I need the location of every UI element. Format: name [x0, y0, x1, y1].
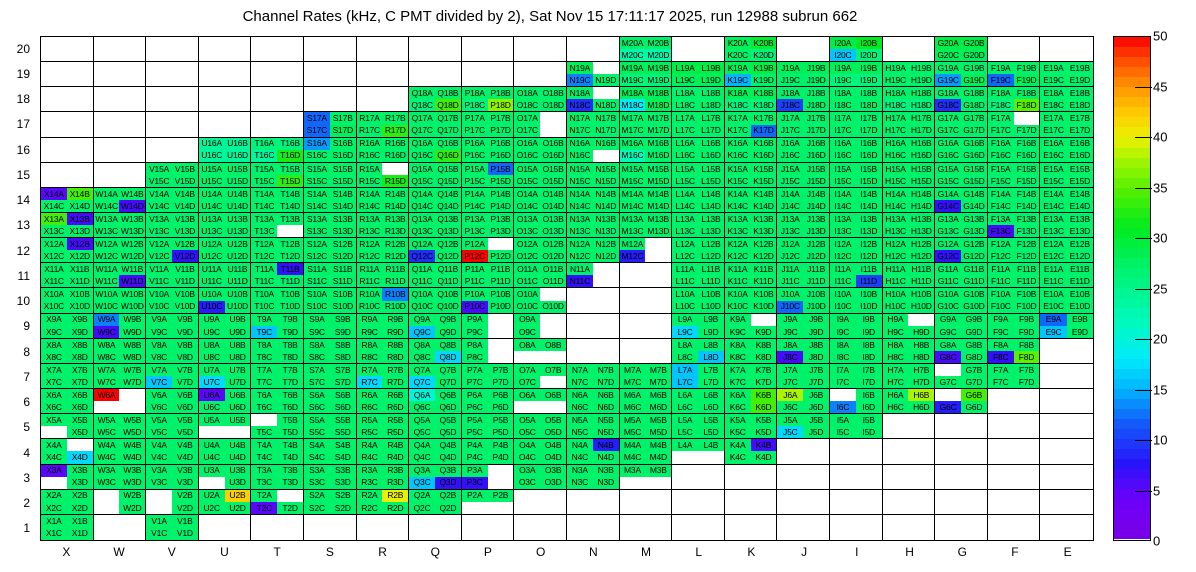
- subchannel-Q3A: Q3A: [409, 465, 435, 477]
- subchannel-G4B: [961, 439, 987, 451]
- heatmap-cell-M17: M17AM17BM17CM17D: [620, 112, 673, 137]
- subchannel-H7C: H7C: [883, 376, 909, 388]
- subchannel-G12C: G12C: [935, 250, 961, 262]
- subchannel-T13A: T13A: [251, 213, 277, 225]
- subchannel-K4B: K4B: [751, 439, 777, 451]
- heatmap-cell-I14: I14AI14BI14CI14D: [830, 188, 883, 213]
- heatmap-cell-I13: I13AI13BI13CI13D: [830, 213, 883, 238]
- subchannel-W15A: [94, 163, 120, 175]
- subchannel-U17C: [199, 125, 225, 137]
- subchannel-R3D: R3D: [382, 477, 408, 489]
- subchannel-N10A: [567, 288, 593, 300]
- subchannel-K3A: [725, 465, 751, 477]
- subchannel-N14D: N14D: [593, 200, 619, 212]
- subchannel-O6D: [540, 401, 566, 413]
- subchannel-M5B: M5B: [645, 414, 671, 426]
- heatmap-cell-X18: [41, 87, 94, 112]
- heatmap-cell-N11: N11AN11C: [567, 263, 620, 288]
- subchannel-U14A: U14A: [199, 188, 225, 200]
- subchannel-T6B: T6B: [277, 389, 303, 401]
- subchannel-G1C: [935, 527, 961, 540]
- subchannel-T2A: T2A: [251, 490, 277, 502]
- heatmap-cell-W12: W12AW12BW12CW12D: [94, 238, 147, 263]
- subchannel-M17C: M17C: [620, 125, 646, 137]
- subchannel-E8B: [1067, 339, 1093, 351]
- subchannel-Q12C: Q12C: [409, 250, 435, 262]
- heatmap-cell-U19: [199, 62, 252, 87]
- subchannel-N1B: [593, 515, 619, 528]
- subchannel-I14D: I14D: [856, 200, 882, 212]
- subchannel-H4A: [883, 439, 909, 451]
- heatmap-cell-F20: [988, 37, 1041, 62]
- subchannel-S10D: S10D: [330, 301, 356, 313]
- heatmap-cell-R8: R8AR8BR8CR8D: [357, 339, 410, 364]
- subchannel-N14C: N14C: [567, 200, 593, 212]
- subchannel-W14C: W14C: [94, 200, 120, 212]
- y-tick-10: 10: [17, 294, 30, 308]
- subchannel-G17A: G17A: [935, 112, 961, 124]
- heatmap-cell-G9: G9AG9BG9CG9D: [935, 314, 988, 339]
- subchannel-F17A: F17A: [988, 112, 1014, 124]
- subchannel-R16B: R16B: [382, 138, 408, 150]
- subchannel-S7D: S7D: [330, 376, 356, 388]
- subchannel-W20B: [119, 37, 145, 49]
- subchannel-E9A: E9A: [1040, 314, 1066, 326]
- subchannel-W20A: [94, 37, 120, 49]
- subchannel-W18C: [94, 99, 120, 111]
- heatmap-cell-S1: [304, 515, 357, 540]
- x-tick-N: N: [589, 545, 598, 559]
- subchannel-X11B: X11B: [67, 263, 93, 275]
- subchannel-X19B: [67, 62, 93, 74]
- subchannel-P4A: P4A: [462, 439, 488, 451]
- heatmap-cell-X11: X11AX11BX11CX11D: [41, 263, 94, 288]
- x-tick-R: R: [378, 545, 387, 559]
- subchannel-E19A: E19A: [1040, 62, 1066, 74]
- subchannel-I12C: I12C: [830, 250, 856, 262]
- subchannel-G1A: [935, 515, 961, 528]
- subchannel-K17B: K17B: [751, 112, 777, 124]
- subchannel-K9B: [751, 314, 777, 326]
- heatmap-cell-T8: T8AT8BT8CT8D: [251, 339, 304, 364]
- subchannel-P20D: [488, 49, 514, 61]
- heatmap-cell-R13: R13AR13BR13CR13D: [357, 213, 410, 238]
- subchannel-I17C: I17C: [830, 125, 856, 137]
- subchannel-I15A: I15A: [830, 163, 856, 175]
- subchannel-H9D: H9D: [908, 326, 934, 338]
- subchannel-O6B: O6B: [540, 389, 566, 401]
- subchannel-X4C: X4C: [41, 451, 67, 463]
- subchannel-V15A: V15A: [146, 163, 172, 175]
- subchannel-G9A: G9A: [935, 314, 961, 326]
- subchannel-V6A: V6A: [146, 389, 172, 401]
- subchannel-V5D: V5D: [172, 426, 198, 438]
- heatmap-cell-R16: R16AR16BR16CR16D: [357, 138, 410, 163]
- subchannel-W11D: W11D: [119, 275, 145, 287]
- subchannel-U12A: U12A: [199, 238, 225, 250]
- subchannel-T2B: [277, 490, 303, 502]
- subchannel-G19D: G19D: [961, 74, 987, 86]
- heatmap-cell-S16: S16AS16BS16CS16D: [304, 138, 357, 163]
- subchannel-J9B: J9B: [803, 314, 829, 326]
- subchannel-R8A: R8A: [357, 339, 383, 351]
- subchannel-J17B: J17B: [803, 112, 829, 124]
- colorbar-tick-mark: [1135, 440, 1152, 441]
- subchannel-M19B: M19B: [645, 62, 671, 74]
- subchannel-E7B: [1067, 364, 1093, 376]
- subchannel-U17B: [225, 112, 251, 124]
- heatmap-cell-P14: P14AP14BP14CP14D: [462, 188, 515, 213]
- subchannel-W11B: W11B: [119, 263, 145, 275]
- subchannel-M6A: M6A: [620, 389, 646, 401]
- subchannel-G1D: [961, 527, 987, 540]
- subchannel-X2D: X2D: [67, 502, 93, 514]
- heatmap-cell-M1: [620, 515, 673, 540]
- heatmap-cell-V3: V3AV3BV3CV3D: [146, 465, 199, 490]
- subchannel-X14B: X14B: [67, 188, 93, 200]
- subchannel-V12C: V12C: [146, 250, 172, 262]
- subchannel-X4B: [67, 439, 93, 451]
- subchannel-S15D: S15D: [330, 175, 356, 187]
- subchannel-L8A: L8A: [672, 339, 698, 351]
- subchannel-N18B: [593, 87, 619, 99]
- subchannel-E2B: [1067, 490, 1093, 502]
- subchannel-V12D: V12D: [172, 250, 198, 262]
- subchannel-N9D: [593, 326, 619, 338]
- subchannel-T20D: [277, 49, 303, 61]
- heatmap-cell-K8: K8AK8BK8CK8D: [725, 339, 778, 364]
- heatmap-cell-N19: N19AN19CN19D: [567, 62, 620, 87]
- subchannel-V5B: V5B: [172, 414, 198, 426]
- heatmap-cell-O13: O13AO13BO13CO13D: [514, 213, 567, 238]
- subchannel-M19D: M19D: [645, 74, 671, 86]
- subchannel-U2D: U2D: [225, 502, 251, 514]
- heatmap-cell-S14: S14AS14BS14CS14D: [304, 188, 357, 213]
- subchannel-H3C: [883, 477, 909, 489]
- subchannel-G6B: G6B: [961, 389, 987, 401]
- subchannel-R19B: [382, 62, 408, 74]
- subchannel-O18C: O18C: [514, 99, 540, 111]
- subchannel-F7C: F7C: [988, 376, 1014, 388]
- subchannel-I4A: [830, 439, 856, 451]
- heatmap-cell-Q8: Q8AQ8BQ8CQ8D: [409, 339, 462, 364]
- heatmap-cell-H10: H10AH10BH10CH10D: [883, 288, 936, 313]
- subchannel-F11C: F11C: [988, 275, 1014, 287]
- subchannel-N4D: N4D: [593, 451, 619, 463]
- subchannel-O18D: O18D: [540, 99, 566, 111]
- subchannel-O2A: [514, 490, 540, 502]
- subchannel-E12B: E12B: [1067, 238, 1093, 250]
- subchannel-G10C: G10C: [935, 301, 961, 313]
- y-tick-14: 14: [17, 193, 30, 207]
- subchannel-P1C: [462, 527, 488, 540]
- heatmap-cell-S19: [304, 62, 357, 87]
- heatmap-cell-I20: I20AI20BI20CI20D: [830, 37, 883, 62]
- subchannel-N4A: N4A: [567, 439, 593, 451]
- heatmap-cell-K14: K14AK14BK14CK14D: [725, 188, 778, 213]
- subchannel-N8A: [567, 339, 593, 351]
- subchannel-N4B: N4B: [593, 439, 619, 451]
- subchannel-S5B: S5B: [330, 414, 356, 426]
- subchannel-T7D: T7D: [277, 376, 303, 388]
- subchannel-Q11A: Q11A: [409, 263, 435, 275]
- subchannel-L4B: L4B: [698, 439, 724, 451]
- subchannel-J8B: J8B: [803, 339, 829, 351]
- subchannel-E9B: E9B: [1067, 314, 1093, 326]
- heatmap-cell-Q6: Q6AQ6BQ6CQ6D: [409, 389, 462, 414]
- heatmap-cell-Q12: Q12AQ12BQ12CQ12D: [409, 238, 462, 263]
- heatmap-cell-M4: M4AM4BM4CM4D: [620, 439, 673, 464]
- subchannel-I9B: I9B: [856, 314, 882, 326]
- subchannel-O15B: O15B: [540, 163, 566, 175]
- subchannel-V11B: V11B: [172, 263, 198, 275]
- subchannel-M7D: M7D: [645, 376, 671, 388]
- subchannel-F20C: [988, 49, 1014, 61]
- subchannel-E10A: E10A: [1040, 288, 1066, 300]
- subchannel-J1A: [777, 515, 803, 528]
- subchannel-K13C: K13C: [725, 225, 751, 237]
- subchannel-G4C: [935, 451, 961, 463]
- subchannel-Q17A: Q17A: [409, 112, 435, 124]
- subchannel-G18D: G18D: [961, 99, 987, 111]
- subchannel-O8A: O8A: [514, 339, 540, 351]
- subchannel-N15D: N15D: [593, 175, 619, 187]
- subchannel-M15A: M15A: [620, 163, 646, 175]
- subchannel-X17C: [41, 125, 67, 137]
- subchannel-F4B: [1014, 439, 1040, 451]
- subchannel-J18C: J18C: [777, 99, 803, 111]
- heatmap-cell-G19: G19AG19BG19CG19D: [935, 62, 988, 87]
- subchannel-O13A: O13A: [514, 213, 540, 225]
- subchannel-P14A: P14A: [462, 188, 488, 200]
- subchannel-T9D: T9D: [277, 326, 303, 338]
- heatmap-cell-P11: P11AP11BP11CP11D: [462, 263, 515, 288]
- subchannel-F14D: F14D: [1014, 200, 1040, 212]
- subchannel-R4B: R4B: [382, 439, 408, 451]
- subchannel-Q15A: Q15A: [409, 163, 435, 175]
- heatmap-cell-K1: [725, 515, 778, 540]
- subchannel-R2A: R2A: [357, 490, 383, 502]
- subchannel-T15C: T15C: [251, 175, 277, 187]
- subchannel-G8D: G8D: [961, 351, 987, 363]
- heatmap-cell-P18: P18AP18BP18CP18D: [462, 87, 515, 112]
- subchannel-R10D: R10D: [382, 301, 408, 313]
- subchannel-N20B: [593, 37, 619, 49]
- subchannel-Q15B: Q15B: [435, 163, 461, 175]
- subchannel-U15A: U15A: [199, 163, 225, 175]
- heatmap-cell-P10: P10AP10BP10CP10D: [462, 288, 515, 313]
- heatmap-cell-E1: [1040, 515, 1093, 540]
- subchannel-K6D: K6D: [751, 401, 777, 413]
- subchannel-O17B: [540, 112, 566, 124]
- subchannel-I8A: I8A: [830, 339, 856, 351]
- subchannel-S12C: S12C: [304, 250, 330, 262]
- heatmap-cell-G8: G8AG8BG8CG8D: [935, 339, 988, 364]
- subchannel-V18C: [146, 99, 172, 111]
- heatmap-cell-O10: O10AO10CO10D: [514, 288, 567, 313]
- subchannel-L18A: L18A: [672, 87, 698, 99]
- subchannel-I11A: I11A: [830, 263, 856, 275]
- heatmap-cell-T17: [251, 112, 304, 137]
- subchannel-E4C: [1040, 451, 1066, 463]
- subchannel-K15A: K15A: [725, 163, 751, 175]
- subchannel-M9A: [620, 314, 646, 326]
- subchannel-I5A: I5A: [830, 414, 856, 426]
- heatmap-cell-P4: P4AP4BP4CP4D: [462, 439, 515, 464]
- subchannel-T16B: T16B: [277, 138, 303, 150]
- heatmap-cell-K15: K15AK15BK15CK15D: [725, 163, 778, 188]
- subchannel-T17D: [277, 125, 303, 137]
- heatmap-cell-M6: M6AM6BM6CM6D: [620, 389, 673, 414]
- subchannel-T11D: T11D: [277, 275, 303, 287]
- heatmap-cell-L5: L5AL5BL5CL5D: [672, 414, 725, 439]
- subchannel-O18B: O18B: [540, 87, 566, 99]
- subchannel-E12A: E12A: [1040, 238, 1066, 250]
- subchannel-M8A: [620, 339, 646, 351]
- subchannel-M10C: [620, 301, 646, 313]
- subchannel-E14B: E14B: [1067, 188, 1093, 200]
- heatmap-cell-X12: X12AX12BX12CX12D: [41, 238, 94, 263]
- subchannel-R10B: R10B: [382, 288, 408, 300]
- subchannel-G15C: G15C: [935, 175, 961, 187]
- subchannel-L15D: L15D: [698, 175, 724, 187]
- subchannel-X1D: X1D: [67, 527, 93, 540]
- heatmap-cell-S5: S5AS5BS5CS5D: [304, 414, 357, 439]
- subchannel-J8A: J8A: [777, 339, 803, 351]
- subchannel-K12D: K12D: [751, 250, 777, 262]
- subchannel-L20C: [672, 49, 698, 61]
- subchannel-T19B: [277, 62, 303, 74]
- colorbar-tick-45: 45: [1153, 79, 1167, 94]
- subchannel-L16C: L16C: [672, 150, 698, 162]
- heatmap-cell-E2: [1040, 490, 1093, 515]
- subchannel-Q4B: Q4B: [435, 439, 461, 451]
- subchannel-E9C: E9C: [1040, 326, 1066, 338]
- heatmap-cell-S17: S17AS17BS17CS17D: [304, 112, 357, 137]
- subchannel-X18D: [67, 99, 93, 111]
- subchannel-F5B: [1014, 414, 1040, 426]
- subchannel-M3B: M3B: [645, 465, 671, 477]
- subchannel-S11A: S11A: [304, 263, 330, 275]
- subchannel-T11A: T11A: [251, 263, 277, 275]
- subchannel-U18B: [225, 87, 251, 99]
- colorbar-tick-mark: [1135, 390, 1152, 391]
- heatmap-cell-V12: V12AV12BV12CV12D: [146, 238, 199, 263]
- subchannel-J15A: J15A: [777, 163, 803, 175]
- subchannel-H2D: [908, 502, 934, 514]
- subchannel-J3D: [803, 477, 829, 489]
- heatmap-cell-I3: [830, 465, 883, 490]
- subchannel-O10A: O10A: [514, 288, 540, 300]
- subchannel-L12C: L12C: [672, 250, 698, 262]
- subchannel-G13D: G13D: [961, 225, 987, 237]
- subchannel-E16B: E16B: [1067, 138, 1093, 150]
- subchannel-F13D: F13D: [1014, 225, 1040, 237]
- heatmap-cell-R18: [357, 87, 410, 112]
- subchannel-K7D: K7D: [751, 376, 777, 388]
- subchannel-L4D: [698, 451, 724, 463]
- subchannel-S1D: [330, 527, 356, 540]
- heatmap-cell-H6: H6AH6BH6CH6D: [883, 389, 936, 414]
- subchannel-N11C: N11C: [567, 275, 593, 287]
- subchannel-H16A: H16A: [883, 138, 909, 150]
- subchannel-G8B: G8B: [961, 339, 987, 351]
- subchannel-N6D: N6D: [593, 401, 619, 413]
- heatmap-cell-S3: S3AS3BS3CS3D: [304, 465, 357, 490]
- heatmap-cell-T7: T7AT7BT7CT7D: [251, 364, 304, 389]
- subchannel-H2A: [883, 490, 909, 502]
- subchannel-V11D: V11D: [172, 275, 198, 287]
- heatmap-cell-L7: L7AL7BL7CL7D: [672, 364, 725, 389]
- subchannel-N19A: N19A: [567, 62, 593, 74]
- subchannel-P14C: P14C: [462, 200, 488, 212]
- subchannel-N17C: N17C: [567, 125, 593, 137]
- subchannel-R2B: R2B: [382, 490, 408, 502]
- heatmap-cell-E5: [1040, 414, 1093, 439]
- heatmap-cell-J8: J8AJ8BJ8CJ8D: [777, 339, 830, 364]
- subchannel-X7B: X7B: [67, 364, 93, 376]
- subchannel-F12A: F12A: [988, 238, 1014, 250]
- subchannel-G6D: G6D: [961, 401, 987, 413]
- subchannel-O3A: O3A: [514, 465, 540, 477]
- subchannel-K6A: K6A: [725, 389, 751, 401]
- subchannel-L13B: L13B: [698, 213, 724, 225]
- heatmap-cell-I19: I19AI19BI19CI19D: [830, 62, 883, 87]
- heatmap-cell-O17: O17AO17C: [514, 112, 567, 137]
- subchannel-Q19B: [435, 62, 461, 74]
- subchannel-E2C: [1040, 502, 1066, 514]
- subchannel-O8D: [540, 351, 566, 363]
- heatmap-cell-K18: K18AK18BK18CK18D: [725, 87, 778, 112]
- subchannel-E17A: E17A: [1040, 112, 1066, 124]
- subchannel-Q5D: Q5D: [435, 426, 461, 438]
- subchannel-V5A: V5A: [146, 414, 172, 426]
- heatmap-cell-T16: T16AT16BT16CT16D: [251, 138, 304, 163]
- heatmap-cell-I7: I7AI7BI7CI7D: [830, 364, 883, 389]
- x-tick-H: H: [905, 545, 914, 559]
- subchannel-R18C: [357, 99, 383, 111]
- subchannel-G12A: G12A: [935, 238, 961, 250]
- subchannel-K20A: K20A: [725, 37, 751, 49]
- subchannel-M11D: [645, 275, 671, 287]
- subchannel-U9D: U9D: [225, 326, 251, 338]
- x-tick-J: J: [801, 545, 807, 559]
- subchannel-L5C: L5C: [672, 426, 698, 438]
- subchannel-Q6C: Q6C: [409, 401, 435, 413]
- subchannel-U4D: U4D: [225, 451, 251, 463]
- heatmap-cell-V5: V5AV5BV5CV5D: [146, 414, 199, 439]
- subchannel-V10D: V10D: [172, 301, 198, 313]
- subchannel-Q9D: Q9D: [435, 326, 461, 338]
- heatmap-cell-U20: [199, 37, 252, 62]
- subchannel-X1C: X1C: [41, 527, 67, 540]
- subchannel-W17C: [94, 125, 120, 137]
- subchannel-I15B: I15B: [856, 163, 882, 175]
- heatmap-cell-V9: V9AV9BV9CV9D: [146, 314, 199, 339]
- subchannel-L2C: [672, 502, 698, 514]
- subchannel-F4C: [988, 451, 1014, 463]
- subchannel-O14A: O14A: [514, 188, 540, 200]
- subchannel-F2C: [988, 502, 1014, 514]
- subchannel-U16D: U16D: [225, 150, 251, 162]
- subchannel-U2B: U2B: [225, 490, 251, 502]
- subchannel-E11D: E11D: [1067, 275, 1093, 287]
- heatmap-cell-H7: H7AH7BH7CH7D: [883, 364, 936, 389]
- subchannel-J12B: J12B: [803, 238, 829, 250]
- subchannel-Q17B: Q17B: [435, 112, 461, 124]
- subchannel-K8C: K8C: [725, 351, 751, 363]
- subchannel-N10D: [593, 301, 619, 313]
